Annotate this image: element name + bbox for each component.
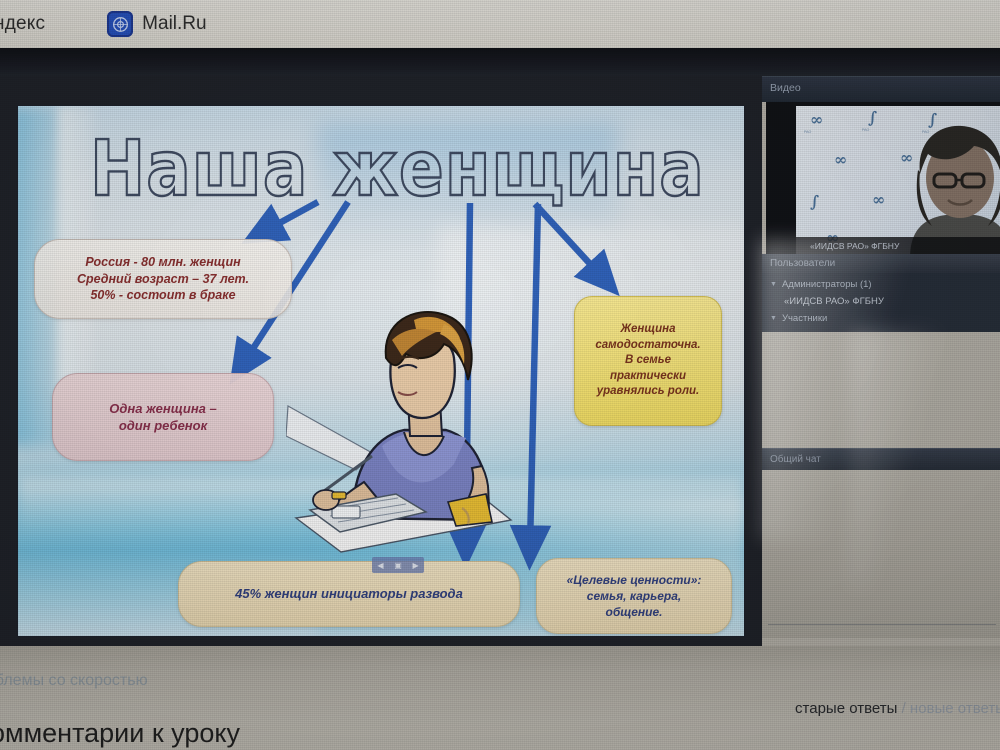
backdrop-logo-icon: ∫ [868, 108, 877, 127]
mailru-bookmark-label: Mail.Ru [142, 13, 206, 35]
mailru-bookmark[interactable]: Mail.Ru [107, 11, 206, 37]
group-admins[interactable]: ▼ Администраторы (1) [762, 276, 1000, 293]
video-panel-title: Видео [770, 82, 801, 94]
video-feed[interactable]: ∞ ∫ ∫ ∞ ∞ ∫ ∞ ∞ РАО РАО РАО [766, 102, 1000, 254]
chat-message-area[interactable] [762, 470, 1000, 638]
browser-bookmarks-bar: ндекс Mail.Ru [0, 0, 1000, 48]
backdrop-logo-icon: ∫ [810, 192, 819, 211]
backdrop-caption: РАО [804, 130, 811, 134]
video-backdrop: ∞ ∫ ∫ ∞ ∞ ∫ ∞ ∞ РАО РАО РАО [796, 106, 1000, 254]
stats-line-1: Россия - 80 млн. женщин [85, 254, 240, 271]
self-suff-line-2: самодостаточна. [595, 338, 700, 353]
divorce-line-1: 45% женщин инициаторы развода [235, 585, 463, 602]
participants-panel-title: Пользователи [762, 254, 1000, 273]
comments-section-title: омментарии к уроку [0, 718, 240, 749]
one-woman-one-child-box[interactable]: Одна женщина – один ребенок [52, 373, 274, 461]
stats-line-2: Средний возраст – 37 лет. [77, 271, 249, 288]
video-name-label: «ИИДСВ РАО» ФГБНУ [796, 237, 1000, 254]
new-answers-link[interactable]: новые ответы [910, 700, 1000, 717]
participant-webcam-person [904, 122, 1000, 254]
divorce-initiators-box[interactable]: 45% женщин инициаторы развода [178, 561, 520, 627]
values-line-2: семья, карьера, [587, 588, 681, 604]
chevron-down-icon[interactable]: ▼ [770, 281, 777, 288]
chat-panel: Общий чат [762, 448, 1000, 646]
old-answers-link[interactable]: старые ответы [795, 700, 897, 717]
group-participants-label: Участники [782, 313, 827, 324]
chat-divider [768, 624, 996, 625]
backdrop-logo-icon: ∞ [834, 150, 847, 169]
right-sidebar: Видео ∞ ∫ ∫ ∞ ∞ ∫ ∞ ∞ РАО РАО РАО [762, 48, 1000, 646]
speed-problem-note: облемы со скоростью [0, 672, 148, 690]
video-panel-header: Видео [762, 76, 1000, 102]
one-child-line-1: Одна женщина – [109, 400, 217, 417]
target-values-box[interactable]: «Целевые ценности»: семья, карьера, обще… [536, 558, 732, 634]
woman-at-desk-illustration [286, 296, 516, 566]
values-line-1: «Целевые ценности»: [567, 572, 702, 588]
backdrop-logo-icon: ∞ [872, 190, 885, 209]
group-admins-label: Администраторы (1) [782, 279, 872, 290]
participants-list: ▼ Администраторы (1) «ИИДСВ РАО» ФГБНУ ▼… [762, 273, 1000, 332]
values-line-3: общение. [606, 604, 663, 620]
answers-sort-toggle[interactable]: старые ответы / новые ответы [795, 700, 1000, 717]
self-suff-line-4: практически [610, 369, 686, 384]
self-sufficient-box[interactable]: Женщина самодостаточна. В семье практиче… [574, 296, 722, 426]
slide-title: Наша женщина [90, 124, 705, 213]
slide-current-icon[interactable]: ▣ [394, 561, 402, 570]
backdrop-logo-icon: ∞ [810, 110, 823, 129]
chat-panel-title: Общий чат [762, 448, 1000, 470]
slide-prev-icon[interactable]: ◀ [377, 561, 383, 570]
group-participants[interactable]: ▼ Участники [762, 310, 1000, 327]
mail-ru-logo-icon [107, 11, 133, 37]
one-child-line-2: один ребенок [119, 417, 207, 434]
app-header-bar [0, 48, 1000, 76]
participant-name[interactable]: «ИИДСВ РАО» ФГБНУ [762, 293, 1000, 310]
self-suff-line-3: В семье [625, 353, 671, 368]
russia-stats-box[interactable]: Россия - 80 млн. женщин Средний возраст … [34, 239, 292, 319]
yandex-bookmark[interactable]: ндекс [0, 13, 45, 35]
self-suff-line-5: уравнялись роли. [597, 384, 700, 399]
backdrop-caption: РАО [862, 128, 869, 132]
answers-separator: / [902, 700, 906, 717]
slide-next-icon[interactable]: ▶ [412, 561, 418, 570]
chevron-down-icon[interactable]: ▼ [770, 315, 777, 322]
stats-line-3: 50% - состоит в браке [90, 287, 235, 304]
monitor-screen: ндекс Mail.Ru абочая область [0, 0, 1000, 750]
slide-navigation[interactable]: ◀ ▣ ▶ [372, 557, 424, 573]
participants-panel: Пользователи ▼ Администраторы (1) «ИИДСВ… [762, 254, 1000, 332]
self-suff-line-1: Женщина [621, 322, 676, 337]
